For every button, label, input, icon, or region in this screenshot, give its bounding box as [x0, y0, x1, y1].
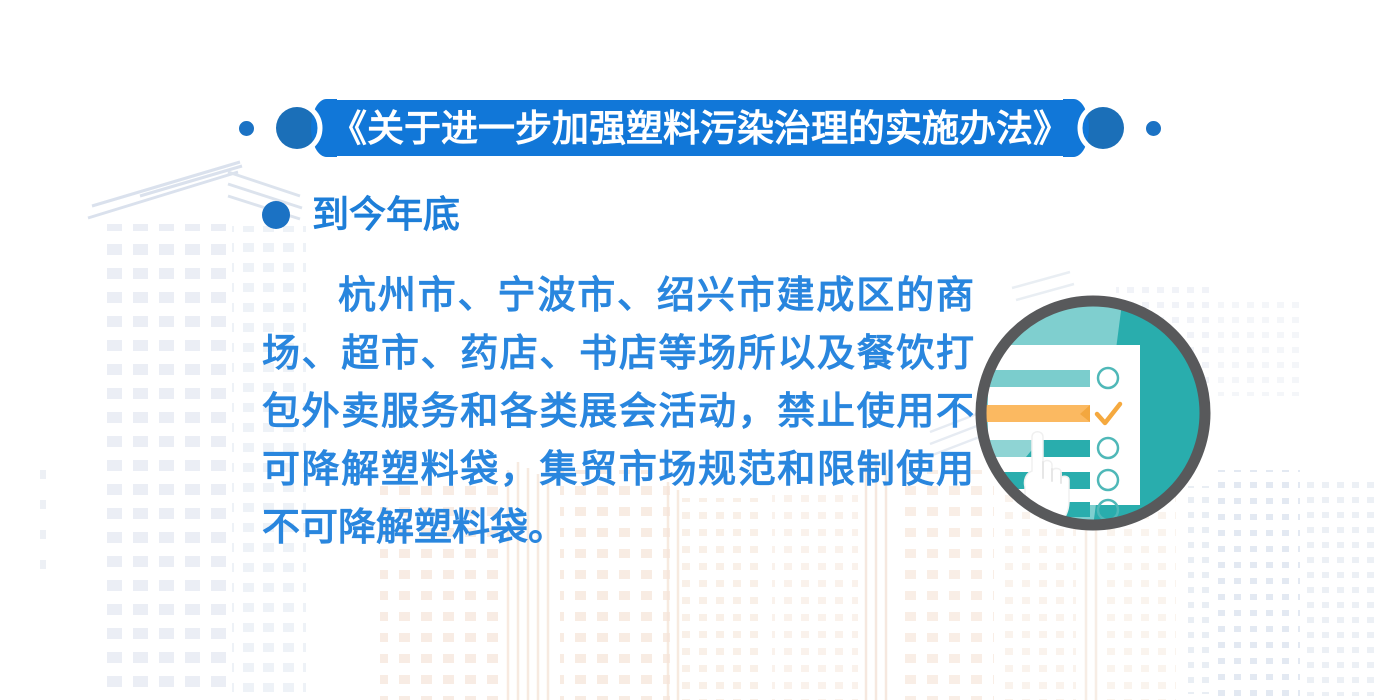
subheading: 到今年底: [262, 196, 460, 233]
page-title: 《关于进一步加强塑料污染治理的实施办法》: [330, 110, 1070, 147]
decorative-dot-left-outer: [239, 121, 254, 136]
checklist-illustration: [962, 282, 1224, 544]
slide-canvas: 《关于进一步加强塑料污染治理的实施办法》 到今年底 杭州市、宁波市、绍兴市建成区…: [0, 0, 1400, 700]
title-banner-row: 《关于进一步加强塑料污染治理的实施办法》: [0, 98, 1400, 158]
decorative-dot-right-outer: [1146, 121, 1161, 136]
bullet-dot-icon: [262, 201, 290, 229]
body-paragraph: 杭州市、宁波市、绍兴市建成区的商场、超市、药店、书店等场所以及餐饮打包外卖服务和…: [262, 266, 974, 556]
subheading-label: 到今年底: [312, 196, 460, 233]
title-banner: 《关于进一步加强塑料污染治理的实施办法》: [324, 100, 1076, 156]
bg-left-stray: [40, 470, 46, 569]
